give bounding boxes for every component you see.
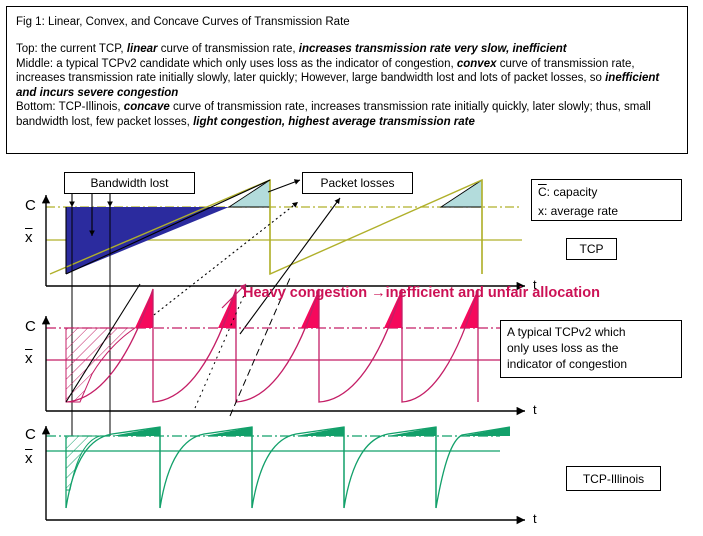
- chart-tcp-linear: [46, 180, 525, 436]
- packet-losses-callout: Packet losses: [302, 172, 413, 194]
- figure-caption-title: Fig 1: Linear, Convex, and Concave Curve…: [16, 15, 678, 29]
- figure-page: Fig 1: Linear, Convex, and Concave Curve…: [0, 0, 703, 536]
- tcp-packet-loss-area-2: [441, 180, 482, 207]
- legend-capacity-text: : capacity: [547, 185, 598, 199]
- tcpv2-rate-curve: [66, 289, 478, 402]
- illinois-axis-label-C: C: [25, 426, 36, 443]
- tcpv2-label-line-3: indicator of congestion: [507, 356, 675, 372]
- tcp-axis-label-C: C: [25, 197, 36, 214]
- caption-segment-1-1: Top: the current TCP,: [16, 43, 127, 55]
- tcpv2-label-line-1: A typical TCPv2 which: [507, 324, 675, 340]
- panel-label-tcp-illinois: TCP-Illinois: [566, 466, 661, 491]
- tcpv2-axis-label-C: C: [25, 318, 36, 335]
- capacity-legend: C: capacity x: average rate: [531, 179, 682, 221]
- caption-segment-1-4: increases transmission rate very slow, i…: [299, 43, 567, 55]
- tcp-axis-label-xbar: x: [25, 229, 33, 246]
- legend-row-avgrate: x: average rate: [538, 202, 675, 221]
- caption-segment-3-2: concave: [124, 101, 170, 113]
- caption-segment-2-2: convex: [457, 58, 497, 70]
- tcpv2-loss-triangle-2: [218, 289, 236, 328]
- caption-segment-1-2: linear: [127, 43, 158, 55]
- caption-segment-3-4: light congestion, highest average transm…: [193, 116, 475, 128]
- illinois-rate-curve: [66, 427, 510, 508]
- tcpv2-loss-triangle-1: [135, 289, 153, 328]
- figure-caption-box: Fig 1: Linear, Convex, and Concave Curve…: [6, 6, 688, 154]
- figure-caption-body: Top: the current TCP, linear curve of tr…: [16, 42, 678, 129]
- tcpv2-annotation-arrow-1: [195, 286, 248, 408]
- legend-capacity-symbol: C: [538, 185, 547, 199]
- tcpv2-axis-label-t: t: [533, 402, 537, 417]
- illinois-axis-label-xbar: x: [25, 450, 33, 467]
- chart-tcp-illinois-concave: [46, 426, 525, 520]
- tcp-packet-loss-area-1: [229, 180, 270, 207]
- tcpv2-label-line-2: only uses loss as the: [507, 340, 675, 356]
- caption-segment-2-1: Middle: a typical TCPv2 candidate which …: [16, 58, 457, 70]
- panel-label-tcp: TCP: [566, 238, 617, 260]
- heavy-congestion-annotation: Heavy congestion →inefficient and unfair…: [243, 285, 600, 301]
- caption-segment-1-3: curve of transmission rate,: [158, 43, 299, 55]
- tcpv2-axis-label-xbar: x: [25, 350, 33, 367]
- packet-losses-leader-1: [268, 180, 300, 192]
- panel-label-tcpv2: A typical TCPv2 which only uses loss as …: [500, 320, 682, 378]
- caption-segment-3-1: Bottom: TCP-Illinois,: [16, 101, 124, 113]
- illinois-axis-label-t: t: [533, 511, 537, 526]
- legend-avgrate-text: : average rate: [544, 204, 618, 218]
- caption-line-3: Bottom: TCP-Illinois, concave curve of t…: [16, 100, 678, 129]
- legend-row-capacity: C: capacity: [538, 183, 675, 202]
- tcpv2-bandwidth-lost-hatch: [66, 328, 135, 402]
- bandwidth-lost-callout: Bandwidth lost: [64, 172, 195, 194]
- packet-losses-leader-3: [240, 198, 340, 334]
- caption-line-2: Middle: a typical TCPv2 candidate which …: [16, 57, 678, 101]
- caption-line-1: Top: the current TCP, linear curve of tr…: [16, 42, 678, 57]
